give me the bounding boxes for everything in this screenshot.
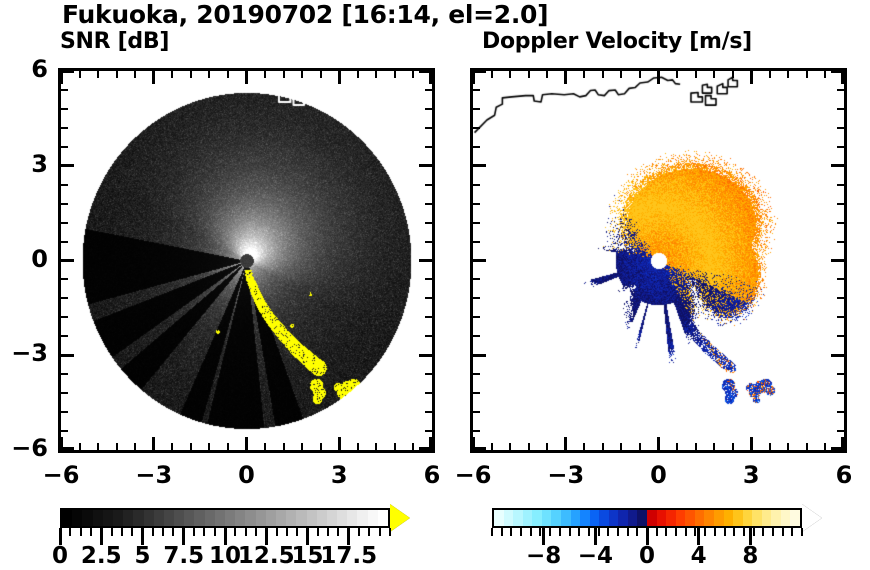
colorbar-minor-tick (368, 528, 370, 536)
snr-ppi-canvas (61, 71, 432, 450)
snr-ytick-label-4: −6 (8, 434, 48, 462)
x-minor-tick (583, 443, 585, 450)
y-major-tick-right (831, 259, 844, 262)
x-minor-tick (283, 443, 285, 450)
y-minor-tick (473, 241, 480, 243)
colorbar-minor-tick (665, 528, 667, 536)
x-minor-tick-top (208, 71, 210, 78)
y-minor-tick-right (425, 222, 432, 224)
x-minor-tick (208, 443, 210, 450)
colorbar-minor-tick (245, 528, 247, 536)
y-minor-tick (61, 430, 68, 432)
x-minor-tick (79, 443, 81, 450)
colorbar-minor-tick (743, 528, 745, 536)
y-major-tick-right (831, 164, 844, 167)
y-minor-tick-right (425, 278, 432, 280)
y-minor-tick (61, 392, 68, 394)
y-minor-tick-right (837, 203, 844, 205)
x-major-tick (152, 437, 155, 450)
colorbar-minor-tick (753, 528, 755, 536)
snr-ytick-label-3: −3 (8, 339, 48, 367)
colorbar-cell (205, 510, 215, 526)
x-minor-tick-top (264, 71, 266, 78)
y-minor-tick-right (425, 127, 432, 129)
snr-panel-title: SNR [dB] (60, 29, 169, 54)
x-minor-tick (676, 443, 678, 450)
y-minor-tick (61, 203, 68, 205)
y-minor-tick-right (837, 411, 844, 413)
doppler-colorbar[interactable] (492, 508, 802, 528)
colorbar-minor-tick (636, 528, 638, 536)
colorbar-minor-tick (675, 528, 677, 536)
x-minor-tick-top (639, 71, 641, 78)
dop-xtick-label-4: 6 (821, 461, 867, 489)
colorbar-cell (133, 510, 143, 526)
x-minor-tick (227, 443, 229, 450)
x-minor-tick-top (394, 71, 396, 78)
y-major-tick-right (831, 70, 844, 73)
snr-xtick-label-2: 0 (224, 461, 270, 489)
x-minor-tick-top (97, 71, 99, 78)
colorbar-minor-tick (782, 528, 784, 536)
y-minor-tick-right (425, 241, 432, 243)
colorbar-cell (685, 510, 695, 526)
y-minor-tick-right (837, 373, 844, 375)
colorbar-cell (276, 510, 286, 526)
colorbar-over-arrow (390, 504, 410, 532)
colorbar-minor-tick (685, 528, 687, 536)
x-major-tick-top (750, 71, 753, 84)
colorbar-cell (695, 510, 705, 526)
x-minor-tick (375, 443, 377, 450)
x-minor-tick-top (732, 71, 734, 78)
colorbar-cell (704, 510, 714, 526)
x-minor-tick (116, 443, 118, 450)
snr-xtick-label-4: 6 (409, 461, 455, 489)
colorbar-cell (144, 510, 154, 526)
colorbar-minor-tick (617, 528, 619, 536)
x-minor-tick (528, 443, 530, 450)
y-minor-tick-right (425, 297, 432, 299)
x-major-tick-top (60, 71, 63, 84)
x-major-tick-top (841, 71, 844, 84)
colorbar-minor-tick (327, 528, 329, 536)
snr-plot-area[interactable] (58, 68, 435, 453)
y-major-tick (61, 259, 74, 262)
y-minor-tick (61, 241, 68, 243)
y-minor-tick-right (425, 411, 432, 413)
colorbar-cell (225, 510, 235, 526)
colorbar-minor-tick (80, 528, 82, 536)
colorbar-cell (357, 510, 367, 526)
x-minor-tick-top (79, 71, 81, 78)
y-minor-tick (61, 184, 68, 186)
y-major-tick (473, 354, 486, 357)
colorbar-cell (494, 510, 504, 526)
colorbar-cell (571, 510, 581, 526)
colorbar-cell (296, 510, 306, 526)
y-minor-tick (61, 127, 68, 129)
colorbar-minor-tick (491, 528, 493, 536)
colorbar-minor-tick (255, 528, 257, 536)
x-minor-tick (806, 443, 808, 450)
y-major-tick-right (419, 70, 432, 73)
x-minor-tick (620, 443, 622, 450)
colorbar-cell (256, 510, 266, 526)
colorbar-minor-tick (203, 528, 205, 536)
x-minor-tick-top (583, 71, 585, 78)
y-major-tick (61, 70, 74, 73)
y-minor-tick-right (837, 89, 844, 91)
y-minor-tick (473, 373, 480, 375)
colorbar-minor-tick (501, 528, 503, 536)
x-minor-tick (301, 443, 303, 450)
y-major-tick (473, 70, 486, 73)
x-minor-tick (787, 443, 789, 450)
colorbar-cell (504, 510, 514, 526)
y-minor-tick (473, 392, 480, 394)
colorbar-minor-tick (90, 528, 92, 536)
x-minor-tick (134, 443, 136, 450)
colorbar-cell (337, 510, 347, 526)
colorbar-cell (317, 510, 327, 526)
y-minor-tick-right (425, 203, 432, 205)
y-minor-tick (61, 89, 68, 91)
colorbar-minor-tick (510, 528, 512, 536)
snr-xtick-label-1: −3 (131, 461, 177, 489)
x-minor-tick-top (620, 71, 622, 78)
x-minor-tick (97, 443, 99, 450)
x-minor-tick-top (787, 71, 789, 78)
snr-ytick-label-2: 0 (8, 245, 48, 273)
colorbar-minor-tick (559, 528, 561, 536)
y-minor-tick-right (425, 335, 432, 337)
y-minor-tick-right (425, 146, 432, 148)
x-major-tick (564, 437, 567, 450)
x-minor-tick (713, 443, 715, 450)
colorbar-cell (72, 510, 82, 526)
x-minor-tick-top (806, 71, 808, 78)
colorbar-cell (174, 510, 184, 526)
colorbar-minor-tick (578, 528, 580, 536)
colorbar-minor-tick (694, 528, 696, 536)
x-major-tick-top (245, 71, 248, 84)
colorbar-minor-tick (569, 528, 571, 536)
x-minor-tick (824, 443, 826, 450)
y-minor-tick-right (837, 297, 844, 299)
colorbar-tick-label: 8 (720, 543, 780, 569)
colorbar-minor-tick (714, 528, 716, 536)
y-minor-tick (61, 278, 68, 280)
x-minor-tick-top (528, 71, 530, 78)
x-minor-tick-top (116, 71, 118, 78)
y-minor-tick (61, 316, 68, 318)
x-minor-tick-top (676, 71, 678, 78)
colorbar-cell (215, 510, 225, 526)
x-minor-tick (357, 443, 359, 450)
x-minor-tick-top (509, 71, 511, 78)
y-major-tick-right (831, 354, 844, 357)
colorbar-minor-tick (704, 528, 706, 536)
colorbar-minor-tick (121, 528, 123, 536)
doppler-panel-title: Doppler Velocity [m/s] (482, 29, 752, 54)
x-minor-tick-top (546, 71, 548, 78)
y-minor-tick (473, 278, 480, 280)
y-major-tick-right (419, 164, 432, 167)
snr-xtick-label-0: −6 (38, 461, 84, 489)
x-minor-tick-top (375, 71, 377, 78)
colorbar-under-arrow (472, 504, 492, 532)
y-major-tick-right (419, 447, 432, 450)
colorbar-minor-tick (214, 528, 216, 536)
y-minor-tick (473, 89, 480, 91)
x-major-tick-top (152, 71, 155, 84)
x-minor-tick-top (412, 71, 414, 78)
colorbar-cell (714, 510, 724, 526)
y-minor-tick-right (425, 373, 432, 375)
colorbar-cell (609, 510, 619, 526)
colorbar-minor-tick (656, 528, 658, 536)
colorbar-cell (618, 510, 628, 526)
colorbar-minor-tick (296, 528, 298, 536)
colorbar-minor-tick (379, 528, 381, 536)
x-minor-tick (320, 443, 322, 450)
colorbar-minor-tick (627, 528, 629, 536)
x-minor-tick (769, 443, 771, 450)
colorbar-minor-tick (337, 528, 339, 536)
colorbar-minor-tick (549, 528, 551, 536)
colorbar-minor-tick (588, 528, 590, 536)
figure-title: Fukuoka, 20190702 [16:14, el=2.0] (62, 0, 548, 29)
y-minor-tick (61, 297, 68, 299)
snr-ytick-label-0: 6 (8, 55, 48, 83)
y-minor-tick-right (837, 146, 844, 148)
colorbar-minor-tick (530, 528, 532, 536)
x-minor-tick-top (824, 71, 826, 78)
y-minor-tick (61, 108, 68, 110)
y-minor-tick (473, 222, 480, 224)
dop-xtick-label-0: −6 (450, 461, 496, 489)
colorbar-cell (235, 510, 245, 526)
doppler-ppi-canvas (473, 71, 844, 450)
colorbar-cell (62, 510, 72, 526)
x-minor-tick-top (357, 71, 359, 78)
y-minor-tick (473, 203, 480, 205)
colorbar-minor-tick (724, 528, 726, 536)
x-major-tick-top (472, 71, 475, 84)
y-minor-tick (473, 411, 480, 413)
x-minor-tick (695, 443, 697, 450)
colorbar-cell (245, 510, 255, 526)
colorbar-over-arrow (802, 504, 822, 532)
y-major-tick-right (419, 259, 432, 262)
dop-xtick-label-2: 0 (636, 461, 682, 489)
y-minor-tick (473, 297, 480, 299)
y-minor-tick (473, 430, 480, 432)
y-major-tick-right (419, 354, 432, 357)
colorbar-cell (771, 510, 781, 526)
x-major-tick-top (657, 71, 660, 84)
y-minor-tick-right (425, 316, 432, 318)
x-minor-tick-top (320, 71, 322, 78)
colorbar-minor-tick (598, 528, 600, 536)
y-minor-tick (61, 222, 68, 224)
y-minor-tick-right (425, 108, 432, 110)
colorbar-cell (542, 510, 552, 526)
colorbar-cell (790, 510, 800, 526)
colorbar-minor-tick (286, 528, 288, 536)
y-minor-tick-right (837, 127, 844, 129)
colorbar-minor-tick (111, 528, 113, 536)
colorbar-cell (523, 510, 533, 526)
snr-colorbar[interactable] (60, 508, 390, 528)
colorbar-cell (368, 510, 378, 526)
colorbar-cell (676, 510, 686, 526)
x-major-tick (245, 437, 248, 450)
x-minor-tick-top (171, 71, 173, 78)
colorbar-cell (307, 510, 317, 526)
x-minor-tick-top (491, 71, 493, 78)
x-major-tick (750, 437, 753, 450)
x-major-tick (657, 437, 660, 450)
colorbar-cell (561, 510, 571, 526)
y-major-tick (473, 447, 486, 450)
x-minor-tick-top (134, 71, 136, 78)
colorbar-cell (743, 510, 753, 526)
colorbar-cell (378, 510, 388, 526)
x-minor-tick (546, 443, 548, 450)
x-major-tick (338, 437, 341, 450)
colorbar-cell (781, 510, 791, 526)
colorbar-cell (194, 510, 204, 526)
snr-ytick-label-1: 3 (8, 150, 48, 178)
y-major-tick-right (831, 447, 844, 450)
colorbar-cell (164, 510, 174, 526)
x-minor-tick-top (227, 71, 229, 78)
colorbar-cell (513, 510, 523, 526)
y-minor-tick-right (837, 278, 844, 280)
colorbar-minor-tick (358, 528, 360, 536)
colorbar-minor-tick (389, 528, 391, 536)
x-minor-tick-top (301, 71, 303, 78)
y-minor-tick-right (837, 335, 844, 337)
colorbar-cell (724, 510, 734, 526)
y-minor-tick-right (837, 392, 844, 394)
colorbar-minor-tick (131, 528, 133, 536)
doppler-plot-area[interactable] (470, 68, 847, 453)
x-minor-tick (264, 443, 266, 450)
y-minor-tick-right (425, 184, 432, 186)
x-minor-tick (190, 443, 192, 450)
x-minor-tick (509, 443, 511, 450)
colorbar-minor-tick (317, 528, 319, 536)
x-major-tick-top (564, 71, 567, 84)
x-minor-tick-top (283, 71, 285, 78)
colorbar-cell (551, 510, 561, 526)
snr-xtick-label-3: 3 (316, 461, 362, 489)
colorbar-cell (327, 510, 337, 526)
colorbar-cell (532, 510, 542, 526)
y-minor-tick (61, 146, 68, 148)
colorbar-minor-tick (172, 528, 174, 536)
x-minor-tick (412, 443, 414, 450)
colorbar-cell (666, 510, 676, 526)
y-major-tick (61, 164, 74, 167)
colorbar-cell (347, 510, 357, 526)
colorbar-cell (762, 510, 772, 526)
x-major-tick-top (338, 71, 341, 84)
colorbar-minor-tick (152, 528, 154, 536)
y-major-tick (473, 259, 486, 262)
colorbar-cell (580, 510, 590, 526)
x-minor-tick-top (769, 71, 771, 78)
y-minor-tick-right (837, 108, 844, 110)
colorbar-minor-tick (234, 528, 236, 536)
y-minor-tick (61, 373, 68, 375)
colorbar-minor-tick (762, 528, 764, 536)
dop-xtick-label-3: 3 (728, 461, 774, 489)
colorbar-cell (752, 510, 762, 526)
y-major-tick (61, 447, 74, 450)
x-minor-tick (639, 443, 641, 450)
colorbar-cell (637, 510, 647, 526)
colorbar-cell (123, 510, 133, 526)
colorbar-minor-tick (193, 528, 195, 536)
y-minor-tick-right (425, 430, 432, 432)
colorbar-cell (82, 510, 92, 526)
colorbar-minor-tick (162, 528, 164, 536)
y-minor-tick (473, 184, 480, 186)
y-minor-tick-right (837, 316, 844, 318)
colorbar-minor-tick (791, 528, 793, 536)
x-major-tick-top (429, 71, 432, 84)
y-minor-tick (473, 146, 480, 148)
colorbar-cell (599, 510, 609, 526)
colorbar-minor-tick (520, 528, 522, 536)
colorbar-cell (266, 510, 276, 526)
y-minor-tick (61, 335, 68, 337)
colorbar-cell (93, 510, 103, 526)
colorbar-minor-tick (276, 528, 278, 536)
colorbar-cell (733, 510, 743, 526)
colorbar-minor-tick (733, 528, 735, 536)
colorbar-minor-tick (69, 528, 71, 536)
colorbar-cell (286, 510, 296, 526)
x-minor-tick-top (190, 71, 192, 78)
colorbar-minor-tick (801, 528, 803, 536)
x-minor-tick (491, 443, 493, 450)
colorbar-minor-tick (607, 528, 609, 536)
y-minor-tick-right (837, 222, 844, 224)
y-minor-tick-right (837, 430, 844, 432)
y-major-tick (61, 354, 74, 357)
colorbar-tick-label: 17.5 (319, 543, 379, 569)
y-minor-tick-right (425, 392, 432, 394)
colorbar-minor-tick (772, 528, 774, 536)
x-minor-tick-top (602, 71, 604, 78)
y-minor-tick (473, 335, 480, 337)
y-major-tick (473, 164, 486, 167)
y-minor-tick (473, 127, 480, 129)
y-minor-tick (473, 316, 480, 318)
y-minor-tick (61, 411, 68, 413)
colorbar-cell (103, 510, 113, 526)
colorbar-cell (628, 510, 638, 526)
dop-xtick-label-1: −3 (543, 461, 589, 489)
x-minor-tick (732, 443, 734, 450)
colorbar-cell (647, 510, 657, 526)
y-minor-tick (473, 108, 480, 110)
